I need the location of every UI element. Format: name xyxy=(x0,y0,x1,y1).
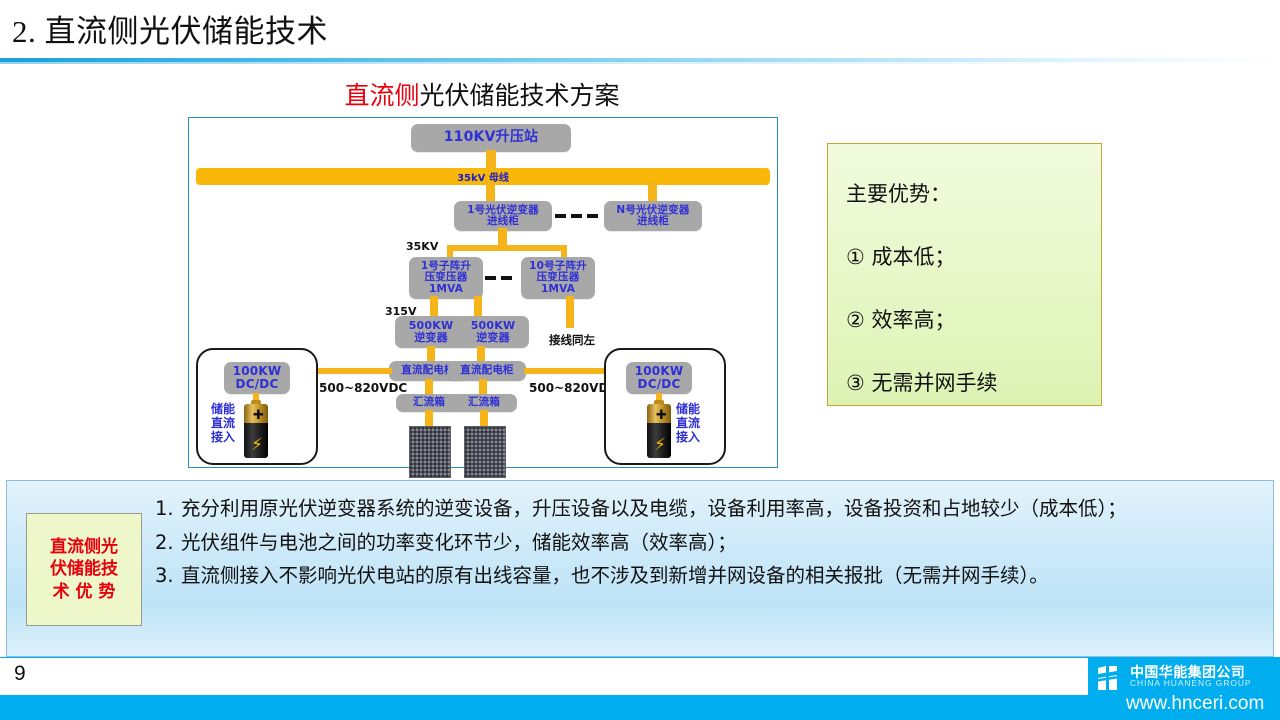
storage-group-right: 100KW DC/DC 储能 直流 接入 ✚⚡ xyxy=(604,348,726,465)
label-storage-right: 储能 直流 接入 xyxy=(676,402,700,444)
summary-point-text: 光伏组件与电池之间的功率变化环节少，储能效率高（效率高）； xyxy=(181,527,1255,559)
node-incoming-cabinet-n: N号光伏逆变器 进线柜 xyxy=(604,201,702,231)
summary-point-number: 2. xyxy=(155,527,181,559)
node-dcdc-right: 100KW DC/DC xyxy=(626,362,692,394)
wire-transformer10-inverter xyxy=(474,296,482,318)
summary-point: 3. 直流侧接入不影响光伏电站的原有出线容量，也不涉及到新增并网设备的相关报批（… xyxy=(155,560,1255,592)
label-vdc-left: 500~820VDC xyxy=(319,381,407,395)
advantages-heading: 主要优势： xyxy=(846,178,951,208)
summary-point: 2. 光伏组件与电池之间的功率变化环节少，储能效率高（效率高）； xyxy=(155,527,1255,559)
huaneng-logo-icon xyxy=(1096,664,1124,692)
label-35kv: 35KV xyxy=(406,240,438,253)
battery-icon-right: ✚⚡ xyxy=(647,400,671,458)
advantage-item-2: ② 效率高； xyxy=(846,304,956,334)
node-dc-cabinet-right: 直流配电柜 xyxy=(448,361,526,381)
summary-panel: 直流侧光 伏储能技 术 优 势 1. 充分利用原光伏逆变器系统的逆变设备，升压设… xyxy=(6,480,1274,657)
wire-transformer-bus xyxy=(447,245,567,251)
summary-tag-box: 直流侧光 伏储能技 术 优 势 xyxy=(26,513,142,626)
label-storage-left: 储能 直流 接入 xyxy=(211,402,235,444)
node-transformer-1: 1号子阵升 压变压器 1MVA xyxy=(409,257,483,299)
node-dcdc-left: 100KW DC/DC xyxy=(224,362,290,394)
summary-tag-text: 直流侧光 伏储能技 术 优 势 xyxy=(50,536,118,603)
diagram-caption-rest: 光伏储能技术方案 xyxy=(420,81,620,110)
node-busbar: 35kV 母线 xyxy=(196,168,770,185)
summary-point-text: 充分利用原光伏逆变器系统的逆变设备，升压设备以及电缆，设备利用率高，设备投资和占… xyxy=(181,493,1255,525)
node-substation: 110KV升压站 xyxy=(411,124,571,152)
diagram-caption-highlight: 直流侧 xyxy=(344,81,419,110)
company-name-en: CHINA HUANENG GROUP xyxy=(1130,678,1251,688)
wire-dc-right-to-storage xyxy=(524,368,604,374)
summary-point-number: 1. xyxy=(155,493,181,525)
dashed-link-transformer xyxy=(485,276,512,280)
node-transformer-10: 10号子阵升 压变压器 1MVA xyxy=(521,257,595,299)
advantage-item-1: ① 成本低； xyxy=(846,241,956,271)
storage-group-left: 100KW DC/DC 储能 直流 接入 ✚⚡ xyxy=(196,348,318,465)
pv-array-right xyxy=(464,426,506,478)
wire-dc-left-to-storage xyxy=(314,368,392,374)
label-same-wiring: 接线同左 xyxy=(549,332,595,348)
summary-point-text: 直流侧接入不影响光伏电站的原有出线容量，也不涉及到新增并网设备的相关报批（无需并… xyxy=(181,560,1255,592)
node-inverter-right: 500KW 逆变器 xyxy=(457,316,529,348)
battery-icon-left: ✚⚡ xyxy=(244,400,268,458)
page-title: 2. 直流侧光伏储能技术 xyxy=(12,6,328,51)
advantage-item-3: ③ 无需并网手续 xyxy=(846,367,998,397)
footer-white-band xyxy=(0,658,1088,695)
summary-points-list: 1. 充分利用原光伏逆变器系统的逆变设备，升压设备以及电缆，设备利用率高，设备投… xyxy=(155,493,1255,594)
diagram-caption: 直流侧光伏储能技术方案 xyxy=(188,76,776,112)
title-divider xyxy=(0,58,1280,63)
wire-transformer1-inverter xyxy=(430,296,438,318)
advantages-panel: 主要优势： ① 成本低； ② 效率高； ③ 无需并网手续 xyxy=(827,143,1102,406)
pv-array-left xyxy=(409,426,451,478)
summary-point-number: 3. xyxy=(155,560,181,592)
summary-point: 1. 充分利用原光伏逆变器系统的逆变设备，升压设备以及电缆，设备利用率高，设备投… xyxy=(155,493,1255,525)
wire-transformer10-right xyxy=(566,296,574,328)
company-website: www.hnceri.com xyxy=(1126,693,1264,715)
page-number: 9 xyxy=(14,662,26,686)
dashed-link-incoming xyxy=(555,214,598,218)
company-logo: 中国华能集团公司 CHINA HUANENG GROUP www.hnceri.… xyxy=(1092,660,1278,718)
node-incoming-cabinet-1: 1号光伏逆变器 进线柜 xyxy=(454,201,552,231)
system-diagram: 110KV升压站 35kV 母线 1号光伏逆变器 进线柜 N号光伏逆变器 进线柜… xyxy=(188,117,778,468)
